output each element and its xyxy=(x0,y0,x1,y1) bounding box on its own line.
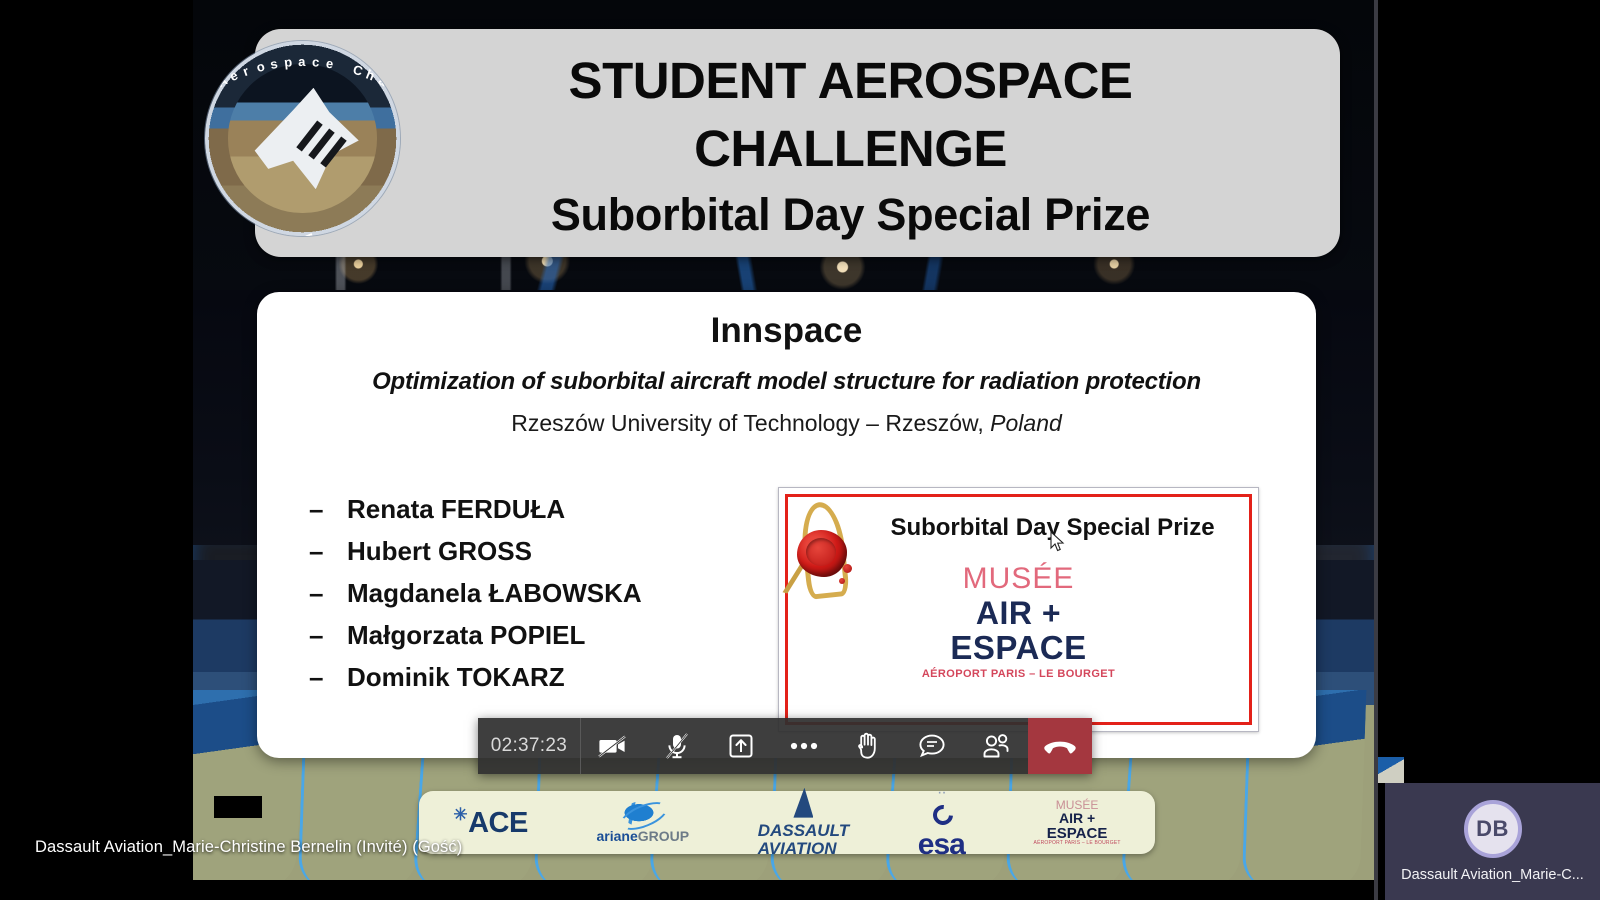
list-item: –Dominik TOKARZ xyxy=(309,656,779,698)
sponsor-musee-line2: AIR + xyxy=(1059,811,1095,825)
author-name: Dominik TOKARZ xyxy=(347,662,565,692)
participants-rail xyxy=(1378,0,1600,900)
banner-line-1: STUDENT AEROSPACE xyxy=(385,47,1316,115)
sponsor-dassault-aviation: DASSAULT AVIATION xyxy=(758,788,849,858)
meeting-timer: 02:37:23 xyxy=(478,718,581,774)
raise-hand-button[interactable] xyxy=(836,718,900,774)
student-aerospace-challenge-logo-icon: Student Aerospace ChallengeDéfi Aérospat… xyxy=(205,41,400,236)
presentation-slide: Innspace Optimization of suborbital airc… xyxy=(257,292,1316,758)
esa-dots-icon: ·· xyxy=(937,784,946,802)
sponsor-esa: ·· esa xyxy=(918,784,965,862)
musee-air-espace-logo: MUSÉE AIR + ESPACE AÉROPORT PARIS – LE B… xyxy=(779,564,1258,680)
shared-content-stage[interactable]: Student Aerospace ChallengeDéfi Aérospat… xyxy=(0,0,1374,900)
musee-line-1: MUSÉE xyxy=(779,564,1258,594)
list-item: –Magdanela ŁABOWSKA xyxy=(309,572,779,614)
university-name: Rzeszów University of Technology – Rzesz… xyxy=(511,410,990,436)
prize-panel: Suborbital Day Special Prize MUSÉE AIR +… xyxy=(778,487,1259,732)
slide-subtitle: Optimization of suborbital aircraft mode… xyxy=(257,368,1316,396)
sponsor-arianegroup: arianeGROUP xyxy=(597,801,690,844)
author-bullet: – xyxy=(309,572,347,614)
microphone-muted-icon xyxy=(664,732,690,760)
list-item: –Hubert GROSS xyxy=(309,530,779,572)
phone-hangup-icon xyxy=(1043,737,1077,755)
presenter-name-overlay: Dassault Aviation_Marie-Christine Bernel… xyxy=(35,838,462,857)
participants-button[interactable] xyxy=(964,718,1028,774)
list-item: –Małgorzata POPIEL xyxy=(309,614,779,656)
arianegroup-mark-icon xyxy=(623,801,663,827)
sponsor-musee-line3: ESPACE xyxy=(1047,826,1108,841)
author-list: –Renata FERDUŁA –Hubert GROSS –Magdanela… xyxy=(309,488,779,698)
hangup-button[interactable] xyxy=(1028,718,1092,774)
sponsor-dassault-label2: AVIATION xyxy=(758,840,849,858)
meeting-toolbar[interactable]: 02:37:23 xyxy=(478,718,1092,774)
share-screen-icon xyxy=(727,732,755,760)
sponsor-esa-label: esa xyxy=(918,828,965,862)
sponsor-ariane-label: ariane xyxy=(597,828,638,844)
redaction-box xyxy=(214,796,262,818)
participant-name: Dassault Aviation_Marie-C... xyxy=(1401,867,1584,883)
video-peek-sliver xyxy=(1378,757,1404,783)
author-bullet: – xyxy=(309,614,347,656)
avatar: DB xyxy=(1464,800,1522,858)
author-bullet: – xyxy=(309,656,347,698)
list-item: –Renata FERDUŁA xyxy=(309,488,779,530)
musee-line-3: ESPACE xyxy=(779,631,1258,664)
ace-star-icon: ✳ xyxy=(453,805,467,824)
sponsor-ace-label: ACE xyxy=(468,807,528,839)
camera-off-icon xyxy=(598,733,628,759)
sponsor-dassault-label: DASSAULT xyxy=(758,822,849,840)
banner-line-3: Suborbital Day Special Prize xyxy=(385,183,1316,247)
author-bullet: – xyxy=(309,530,347,572)
chat-button[interactable] xyxy=(900,718,964,774)
university-country: Poland xyxy=(990,410,1062,436)
camera-off-button[interactable] xyxy=(581,718,645,774)
author-name: Magdanela ŁABOWSKA xyxy=(347,578,642,608)
people-icon xyxy=(981,733,1011,759)
author-name: Małgorzata POPIEL xyxy=(347,620,585,650)
event-banner: Student Aerospace ChallengeDéfi Aérospat… xyxy=(255,29,1340,257)
musee-line-4: AÉROPORT PARIS – LE BOURGET xyxy=(779,669,1258,680)
more-options-button[interactable] xyxy=(773,718,837,774)
author-name: Hubert GROSS xyxy=(347,536,532,566)
prize-title: Suborbital Day Special Prize xyxy=(857,514,1248,542)
author-bullet: – xyxy=(309,488,347,530)
dassault-mark-icon xyxy=(793,788,813,818)
share-screen-button[interactable] xyxy=(709,718,773,774)
sponsor-musee-line4: AÉROPORT PARIS – LE BOURGET xyxy=(1034,841,1121,846)
sponsor-ace: ✳ACE xyxy=(453,805,527,840)
musee-line-2: AIR + xyxy=(779,597,1258,629)
slide-title: Innspace xyxy=(257,311,1316,351)
logo-ring-text: Student Aerospace ChallengeDéfi Aérospat… xyxy=(205,41,400,236)
banner-line-2: CHALLENGE xyxy=(385,115,1316,183)
sponsor-bar: ✳ACE arianeGROUP DASSAULT AVIATION ·· es… xyxy=(419,791,1155,854)
microphone-muted-button[interactable] xyxy=(645,718,709,774)
participant-tile[interactable]: DB Dassault Aviation_Marie-C... xyxy=(1385,783,1600,900)
banner-title-block: STUDENT AEROSPACE CHALLENGE Suborbital D… xyxy=(385,47,1316,247)
meeting-window: Student Aerospace ChallengeDéfi Aérospat… xyxy=(0,0,1600,900)
esa-ring-icon xyxy=(929,800,957,828)
chat-bubble-icon xyxy=(918,733,946,759)
author-name: Renata FERDUŁA xyxy=(347,494,565,524)
sponsor-musee-air-espace: MUSÉE AIR + ESPACE AÉROPORT PARIS – LE B… xyxy=(1034,799,1121,846)
ellipsis-icon xyxy=(789,741,819,751)
sponsor-ariane-label2: GROUP xyxy=(638,828,689,844)
raised-hand-icon xyxy=(855,731,881,761)
slide-university: Rzeszów University of Technology – Rzesz… xyxy=(257,410,1316,437)
